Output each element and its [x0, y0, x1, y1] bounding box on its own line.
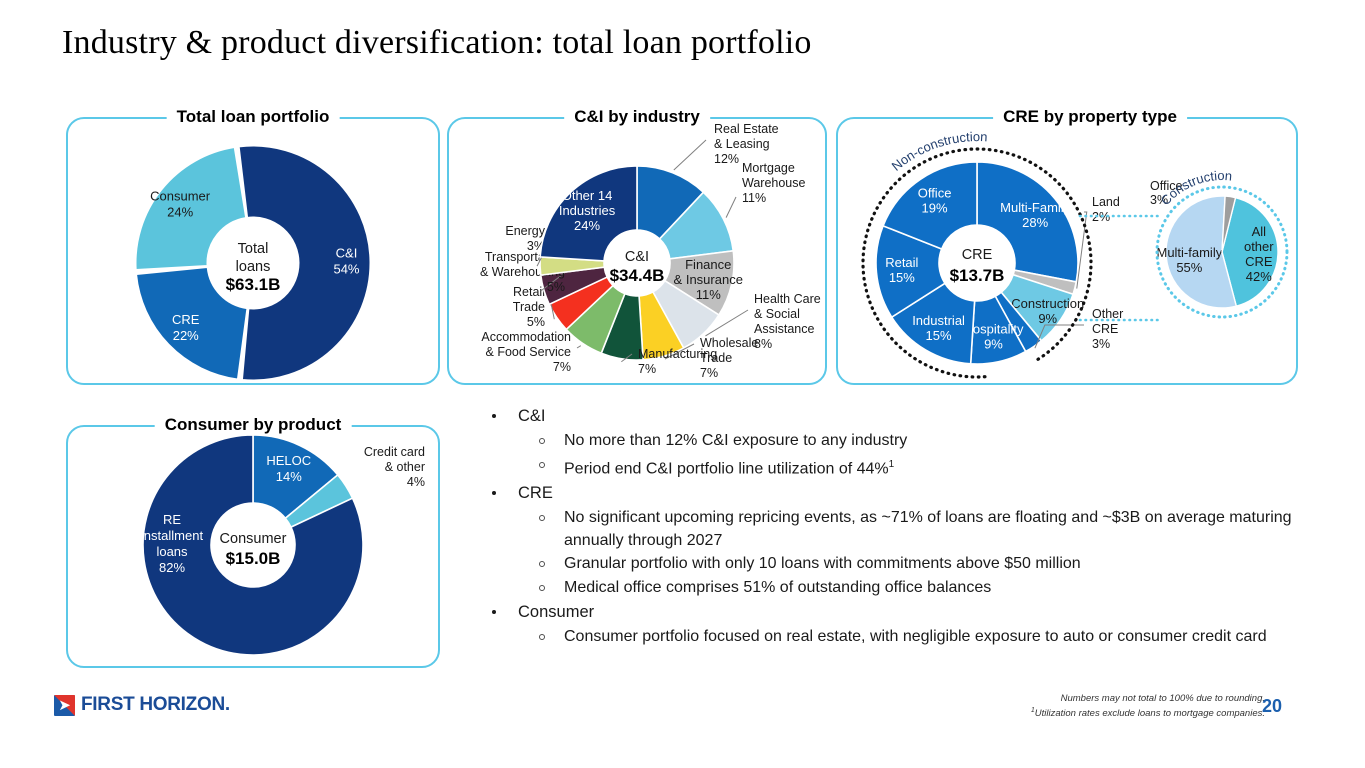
slide-canvas: Industry & product diversification: tota…: [0, 0, 1365, 768]
svg-text:14%: 14%: [276, 469, 302, 484]
bullet-level2: Consumer portfolio focused on real estat…: [484, 626, 1344, 649]
bullet-level1: Consumer: [484, 600, 1344, 625]
footnote-rounding: Numbers may not total to 100% due to rou…: [1031, 693, 1265, 705]
page-number: 20: [1262, 696, 1282, 717]
footnote-utilization: 1Utilization rates exclude loans to mort…: [1031, 705, 1265, 720]
svg-text:82%: 82%: [159, 560, 185, 575]
bullet-level1: C&I: [484, 404, 1344, 429]
svg-text:Credit card: Credit card: [364, 445, 425, 459]
svg-text:HELOC: HELOC: [266, 453, 311, 468]
svg-text:Consumer: Consumer: [220, 531, 287, 547]
brand-logo: ➤ FIRST HORIZON.: [54, 694, 230, 716]
bullet-level2: No more than 12% C&I exposure to any ind…: [484, 430, 1344, 453]
key-points-list: C&INo more than 12% C&I exposure to any …: [484, 404, 1344, 650]
brand-logo-text: FIRST HORIZON.: [81, 694, 230, 716]
svg-text:& other: & other: [385, 460, 425, 474]
svg-text:$15.0B: $15.0B: [226, 549, 281, 568]
bullet-level2: Period end C&I portfolio line utilizatio…: [484, 454, 1344, 481]
bullet-level1: CRE: [484, 481, 1344, 506]
svg-text:loans: loans: [156, 544, 188, 559]
svg-text:4%: 4%: [407, 475, 425, 489]
svg-text:RE: RE: [163, 512, 181, 527]
first-horizon-star-icon: ➤: [54, 695, 75, 716]
bullet-level2: Medical office comprises 51% of outstand…: [484, 577, 1344, 600]
footnotes: Numbers may not total to 100% due to rou…: [1031, 693, 1265, 720]
svg-text:installment: installment: [141, 528, 204, 543]
bullet-level2: Granular portfolio with only 10 loans wi…: [484, 553, 1344, 576]
bullet-level2: No significant upcoming repricing events…: [484, 507, 1344, 552]
chart-consumer-by-product: HELOC14%Credit card& other4%REinstallmen…: [0, 0, 1365, 768]
